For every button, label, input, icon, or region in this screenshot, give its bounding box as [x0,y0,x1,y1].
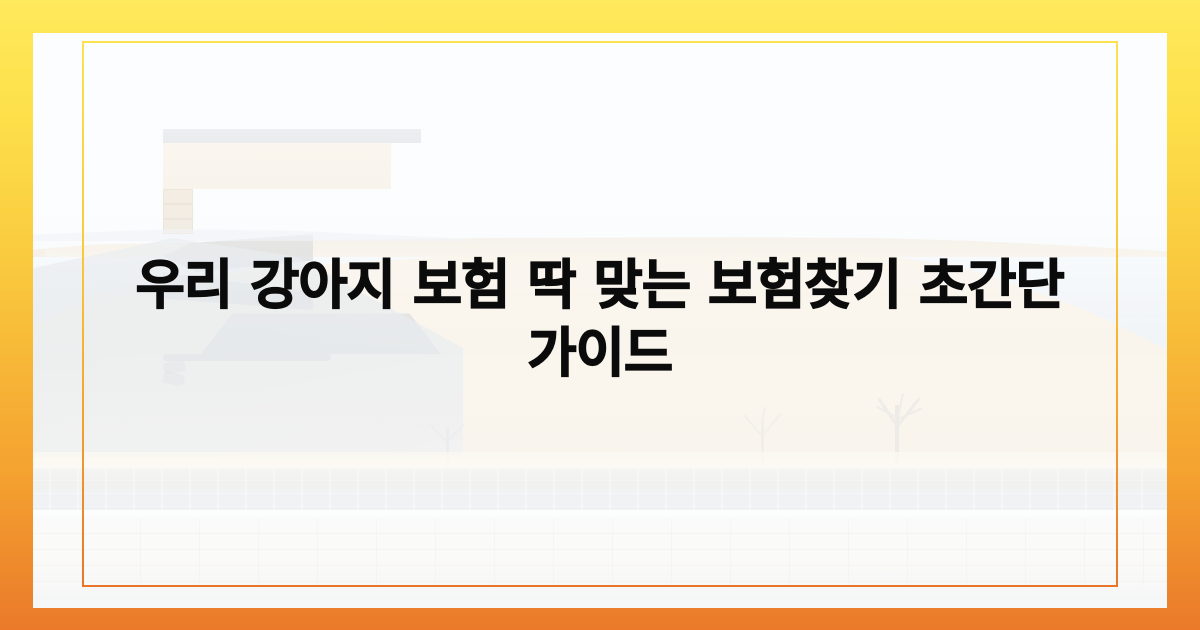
stone-band-texture [33,468,1167,512]
pavilion-window [163,189,193,204]
pavilion-base [163,129,421,143]
ground [33,586,1167,608]
banner: 우리 강아지 보험 딱 맞는 보험찾기 초간단 가이드 [0,0,1200,630]
pavilion-body [163,143,391,189]
page-title: 우리 강아지 보험 딱 맞는 보험찾기 초간단 가이드 [33,252,1167,390]
brick-wall-texture [33,518,1167,590]
pavilion [163,129,523,264]
content-plate: 우리 강아지 보험 딱 맞는 보험찾기 초간단 가이드 [33,33,1167,608]
pavilion-window [163,204,193,219]
path-band [33,452,1167,468]
